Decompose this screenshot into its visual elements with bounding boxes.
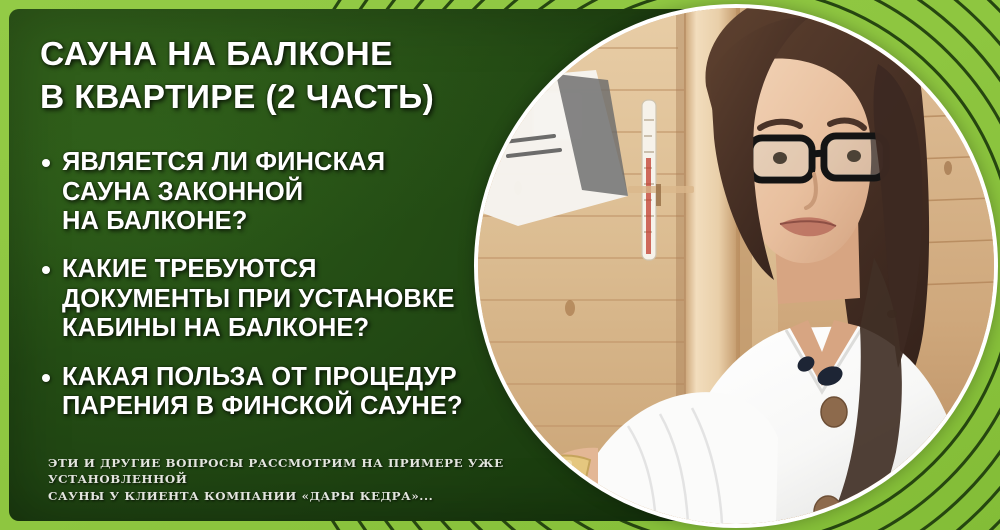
promo-poster: САУНА НА БАЛКОНЕ В КВАРТИРЕ (2 ЧАСТЬ) ЯВ…	[0, 0, 1000, 530]
list-item-legality: ЯВЛЯЕТСЯ ЛИ ФИНСКАЯ САУНА ЗАКОННОЙ НА БА…	[40, 148, 510, 236]
photo-content	[478, 8, 994, 524]
sauna-scene-illustration	[478, 8, 994, 524]
footnote-text: ЭТИ И ДРУГИЕ ВОПРОСЫ РАССМОТРИМ НА ПРИМЕ…	[48, 455, 589, 504]
question-list: ЯВЛЯЕТСЯ ЛИ ФИНСКАЯ САУНА ЗАКОННОЙ НА БА…	[40, 148, 510, 422]
circular-photo	[478, 8, 994, 524]
list-item-benefits: КАКАЯ ПОЛЬЗА ОТ ПРОЦЕДУР ПАРЕНИЯ В ФИНСК…	[40, 363, 510, 422]
list-item-documents: КАКИЕ ТРЕБУЮТСЯ ДОКУМЕНТЫ ПРИ УСТАНОВКЕ …	[40, 255, 510, 343]
text-column: САУНА НА БАЛКОНЕ В КВАРТИРЕ (2 ЧАСТЬ) ЯВ…	[40, 34, 510, 422]
page-title: САУНА НА БАЛКОНЕ В КВАРТИРЕ (2 ЧАСТЬ)	[40, 34, 510, 119]
